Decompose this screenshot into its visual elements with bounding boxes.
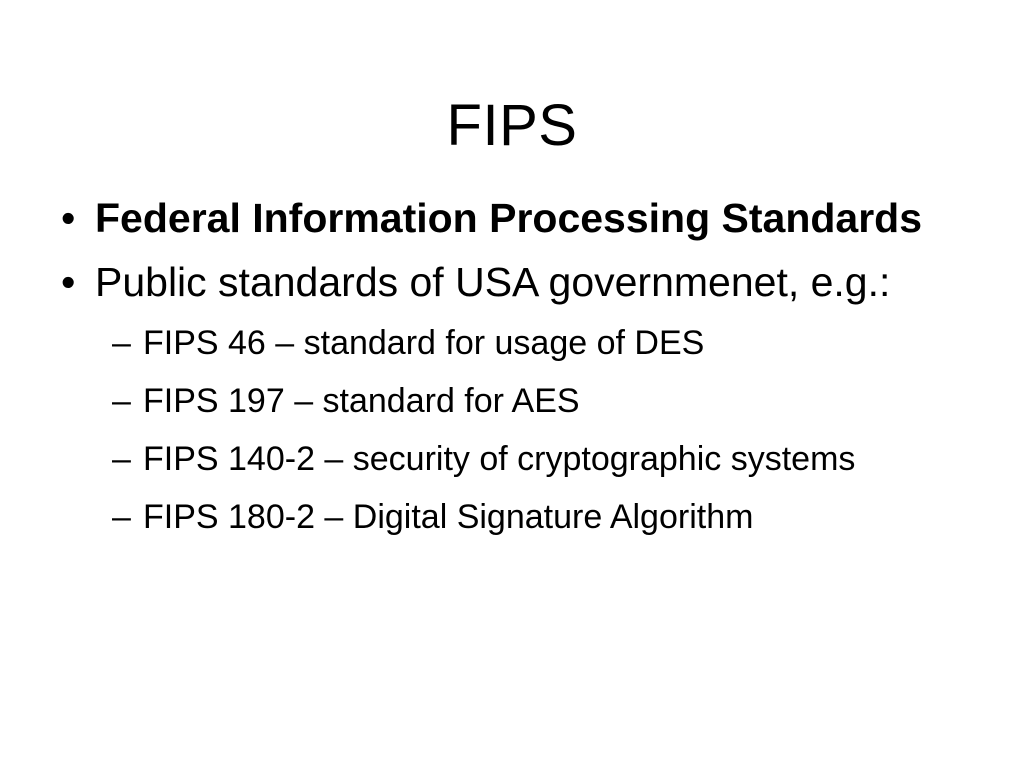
bullet-dash-icon: – — [112, 488, 142, 546]
list-item: – FIPS 46 – standard for usage of DES — [0, 314, 1024, 372]
bullet-dash-icon: – — [112, 314, 142, 372]
list-item-label: Federal Information Processing Standards — [95, 186, 922, 250]
list-item-label: Public standards of USA governmenet, e.g… — [95, 250, 890, 314]
list-item-label: FIPS 140-2 – security of cryptographic s… — [143, 430, 855, 488]
list-item: – FIPS 197 – standard for AES — [0, 372, 1024, 430]
bullet-dot-icon: • — [61, 250, 81, 314]
bullet-dash-icon: – — [112, 372, 142, 430]
list-item: – FIPS 180-2 – Digital Signature Algorit… — [0, 488, 1024, 546]
slide-content-body: • Federal Information Processing Standar… — [0, 186, 1024, 546]
list-item: • Federal Information Processing Standar… — [0, 186, 1024, 250]
presentation-slide: FIPS • Federal Information Processing St… — [0, 0, 1024, 768]
list-item-label: FIPS 197 – standard for AES — [143, 372, 580, 430]
bullet-dot-icon: • — [61, 186, 81, 250]
list-item: – FIPS 140-2 – security of cryptographic… — [0, 430, 1024, 488]
list-item-label: FIPS 180-2 – Digital Signature Algorithm — [143, 488, 753, 546]
list-item: • Public standards of USA governmenet, e… — [0, 250, 1024, 314]
list-item-label: FIPS 46 – standard for usage of DES — [143, 314, 704, 372]
page-title: FIPS — [0, 91, 1024, 161]
bullet-dash-icon: – — [112, 430, 142, 488]
sub-list: – FIPS 46 – standard for usage of DES – … — [0, 314, 1024, 546]
